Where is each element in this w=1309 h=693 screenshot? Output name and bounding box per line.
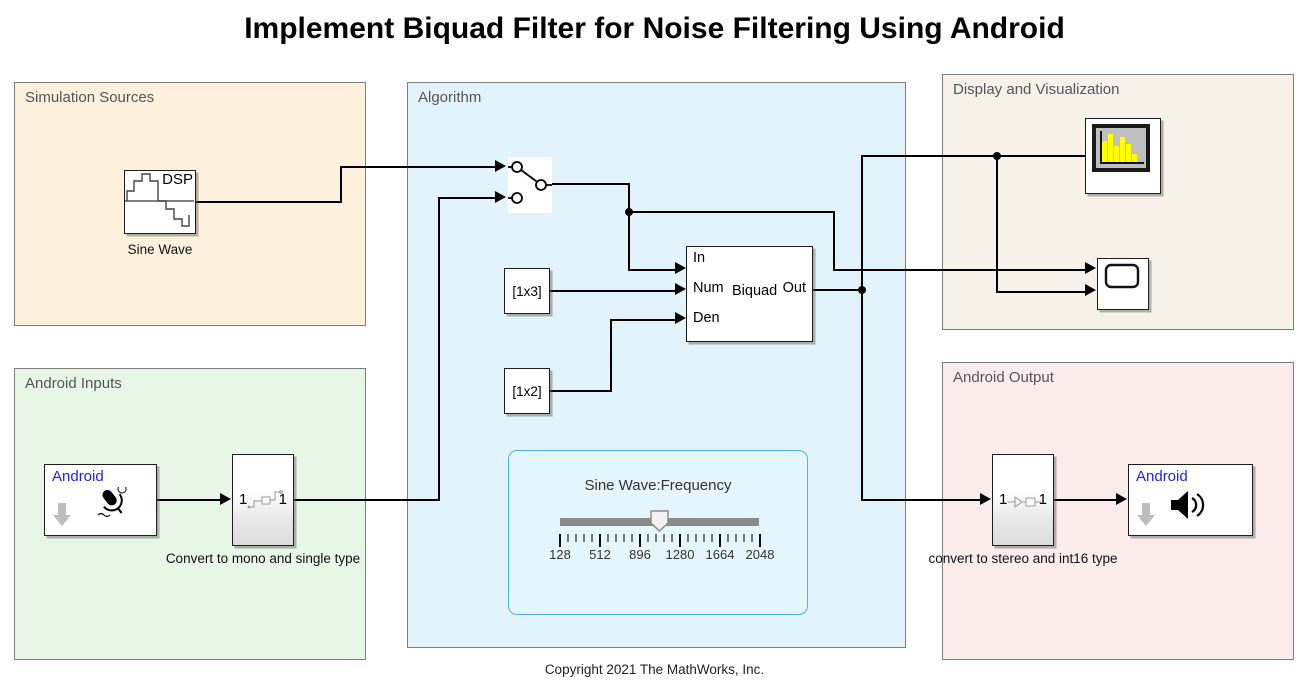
download-arrow-icon-2 bbox=[1135, 502, 1157, 533]
slider-tick-label: 1664 bbox=[706, 547, 735, 562]
wire-sine-h1 bbox=[196, 201, 342, 203]
wire-branch-to-scope bbox=[833, 269, 1086, 271]
subsystem-contents-icon bbox=[247, 489, 283, 515]
wire-biquad-to-spectrum bbox=[861, 155, 1086, 157]
arrow-convert-in bbox=[220, 493, 231, 505]
area-label-algorithm: Algorithm bbox=[418, 89, 481, 106]
block-convert-to-mono-single[interactable]: 1 1 bbox=[232, 454, 294, 546]
block-android-speaker[interactable]: Android bbox=[1128, 464, 1253, 536]
wire-sub-to-speaker bbox=[1054, 499, 1116, 501]
android-speaker-vendor: Android bbox=[1136, 468, 1188, 485]
wire-switch-out-h bbox=[552, 183, 630, 185]
block-constant-num[interactable]: [1x3] bbox=[504, 268, 550, 314]
copyright-text: Copyright 2021 The MathWorks, Inc. bbox=[0, 662, 1309, 677]
biquad-port-in: In bbox=[693, 250, 705, 266]
wire-mic-h2 bbox=[438, 197, 495, 199]
slider-tick-label: 128 bbox=[549, 547, 571, 562]
biquad-port-out: Out bbox=[783, 280, 806, 296]
slider-tick-label: 1280 bbox=[666, 547, 695, 562]
arrow-switch-in1 bbox=[495, 160, 506, 172]
scope-icon bbox=[1098, 259, 1147, 308]
wire-branch-v bbox=[833, 211, 835, 270]
wire-sine-v1 bbox=[340, 166, 342, 202]
area-label-android-output: Android Output bbox=[953, 369, 1054, 386]
arrow-switch-in2 bbox=[495, 191, 506, 203]
slider-ticks bbox=[556, 533, 764, 547]
wire-branch-h bbox=[628, 211, 835, 213]
arrow-biquad-num bbox=[675, 283, 686, 295]
simulink-model-canvas: Implement Biquad Filter for Noise Filter… bbox=[0, 0, 1309, 693]
area-label-android-inputs: Android Inputs bbox=[25, 375, 122, 392]
spectrum-analyzer-icon bbox=[1086, 119, 1159, 192]
arrow-speaker-in bbox=[1116, 493, 1127, 505]
block-spectrum-analyzer[interactable] bbox=[1085, 118, 1161, 194]
wire-spectrum-branch-h bbox=[996, 291, 1086, 293]
block-manual-switch[interactable] bbox=[508, 157, 552, 213]
wire-switch-out-v bbox=[628, 183, 630, 271]
block-label-sine-wave: Sine Wave bbox=[94, 242, 226, 257]
wire-den-h2 bbox=[610, 319, 676, 321]
android-mic-vendor: Android bbox=[52, 468, 104, 485]
wire-sine-h2 bbox=[340, 166, 495, 168]
area-label-simulation-sources: Simulation Sources bbox=[25, 89, 154, 106]
biquad-port-num: Num bbox=[693, 280, 724, 296]
block-time-scope[interactable] bbox=[1097, 258, 1149, 310]
wire-den-v1 bbox=[610, 319, 612, 391]
block-constant-den[interactable]: [1x2] bbox=[504, 368, 550, 414]
arrow-scope-in1 bbox=[1085, 262, 1096, 274]
wire-switch-to-biquad bbox=[628, 269, 676, 271]
wire-den-h1 bbox=[550, 390, 612, 392]
wire-biquad-up bbox=[861, 155, 863, 290]
block-convert-to-stereo-int16[interactable]: 1 1 bbox=[992, 454, 1054, 546]
subsystem-contents-icon-2 bbox=[1007, 493, 1043, 511]
download-arrow-icon bbox=[51, 502, 73, 533]
slider-title: Sine Wave:Frequency bbox=[509, 477, 807, 494]
sine-wave-badge: DSP bbox=[162, 171, 193, 188]
slider-thumb[interactable] bbox=[650, 510, 669, 532]
biquad-block-name: Biquad bbox=[732, 283, 777, 299]
wire-num bbox=[550, 290, 676, 292]
manual-switch-icon bbox=[508, 157, 552, 213]
wire-mic-h1 bbox=[294, 499, 440, 501]
speaker-icon bbox=[1169, 489, 1215, 521]
constant-num-value: [1x3] bbox=[505, 269, 549, 313]
biquad-port-den: Den bbox=[693, 310, 720, 326]
constant-den-value: [1x2] bbox=[505, 369, 549, 413]
microphone-icon bbox=[91, 487, 137, 521]
page-title: Implement Biquad Filter for Noise Filter… bbox=[0, 12, 1309, 46]
slider-tick-labels: 128512896128016642048 bbox=[509, 547, 809, 565]
slider-tick-label: 896 bbox=[629, 547, 651, 562]
arrow-scope-in2 bbox=[1085, 284, 1096, 296]
slider-tick-label: 512 bbox=[589, 547, 611, 562]
wire-mic-v1 bbox=[438, 197, 440, 500]
arrow-biquad-den bbox=[675, 312, 686, 324]
arrow-convert-out-in bbox=[980, 493, 991, 505]
block-biquad-filter[interactable]: In Num Den Biquad Out bbox=[686, 246, 813, 342]
block-label-convert-in: Convert to mono and single type bbox=[112, 551, 414, 566]
arrow-biquad-in bbox=[675, 262, 686, 274]
area-label-display: Display and Visualization bbox=[953, 81, 1120, 98]
slider-tick-label: 2048 bbox=[746, 547, 775, 562]
block-sine-wave[interactable]: DSP bbox=[124, 170, 196, 234]
wire-spectrum-branch-v bbox=[996, 155, 998, 292]
panel-sine-wave-frequency-slider[interactable]: Sine Wave:Frequency 12851289612801664204… bbox=[508, 450, 808, 615]
block-android-microphone[interactable]: Android bbox=[44, 464, 157, 536]
wire-mic-to-sub bbox=[157, 499, 221, 501]
wire-out-v bbox=[861, 289, 863, 501]
wire-out-h bbox=[861, 499, 981, 501]
block-label-convert-out: convert to stereo and int16 type bbox=[872, 551, 1174, 566]
